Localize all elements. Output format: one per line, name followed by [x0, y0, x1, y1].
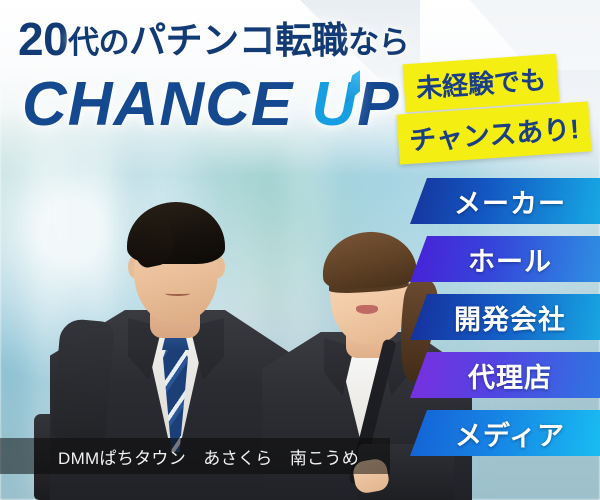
man-arm — [51, 318, 115, 442]
headline-text: 20代のパチンコ転職なら — [18, 16, 409, 62]
headline-conditional-suffix: なら — [348, 25, 409, 60]
category-button-hall[interactable]: ホール — [410, 236, 600, 282]
woman-mouth — [356, 305, 378, 314]
category-label-hall: ホール — [458, 240, 552, 279]
category-button-agency[interactable]: 代理店 — [410, 352, 600, 398]
man-hair — [127, 202, 225, 264]
headline-kanji: 転職 — [275, 20, 348, 61]
logo-up-u-letter: U — [311, 74, 357, 136]
category-label-agency: 代理店 — [458, 356, 552, 395]
logo-up-p-letter: P — [357, 70, 399, 139]
woman-hair-top — [320, 229, 418, 291]
headline-katakana: パチンコ — [129, 20, 275, 61]
logo-chance-word: CHANCE — [22, 70, 293, 139]
credit-bar: DMMぱちタウン あさくら 南こうめ — [0, 438, 390, 474]
category-button-development-company[interactable]: 開発会社 — [410, 294, 600, 340]
man-mouth — [165, 291, 190, 296]
category-label-maker: メーカー — [444, 182, 566, 221]
headline-number: 20 — [18, 13, 68, 65]
category-button-maker[interactable]: メーカー — [410, 178, 600, 224]
category-label-media: メディア — [445, 414, 565, 453]
category-label-development-company: 開発会社 — [444, 298, 566, 337]
headline-age-suffix: 代の — [68, 25, 129, 60]
credit-text: DMMぱちタウン あさくら 南こうめ — [0, 444, 359, 469]
category-button-list: メーカー ホール 開発会社 代理店 メディア — [410, 178, 600, 468]
advertisement-banner[interactable]: 20代のパチンコ転職なら CHANCE UP 未経験でも チャンスあり! メーカ… — [0, 0, 600, 500]
chance-up-logo: CHANCE UP — [22, 74, 400, 136]
category-button-media[interactable]: メディア — [410, 410, 600, 456]
